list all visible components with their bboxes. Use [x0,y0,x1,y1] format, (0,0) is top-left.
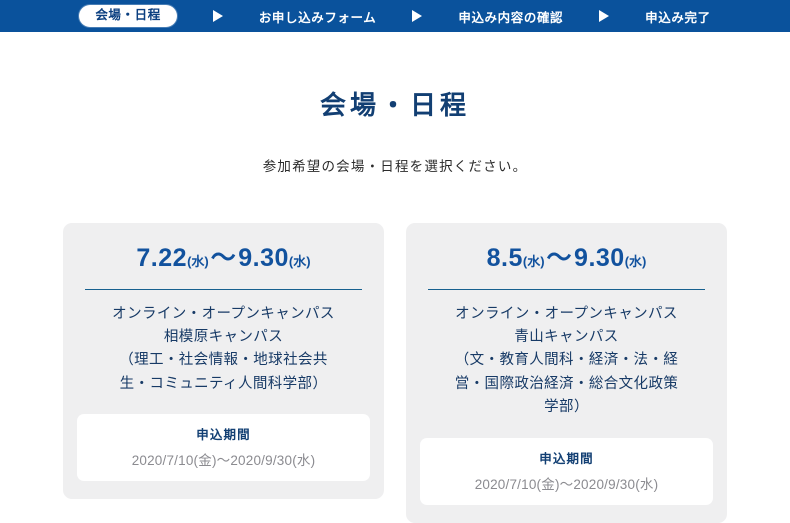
application-period-label: 申込期間 [428,448,705,467]
application-period-box: 申込期間 2020/7/10(金)〜2020/9/30(水) [77,414,370,481]
application-period-label: 申込期間 [85,424,362,443]
card-description-line: 青山キャンパス [424,326,709,349]
card-description-line: 学部） [424,396,709,419]
application-period-value: 2020/7/10(金)〜2020/9/30(水) [85,449,362,469]
card-description-line: オンライン・オープンキャンパス [424,303,709,326]
date-end: 9.30 [574,244,625,272]
card-description: オンライン・オープンキャンパス 相模原キャンパス （理工・社会情報・地球社会共 … [77,303,370,397]
card-description-line: （理工・社会情報・地球社会共 [81,349,366,372]
card-description-line: 営・国際政治経済・総合文化政策 [424,373,709,396]
card-date-range: 8.5(水)〜9.30(水) [420,245,713,273]
date-start-dow: (水) [187,254,209,269]
date-end: 9.30 [238,244,289,272]
page-subtitle: 参加希望の会場・日程を選択ください。 [0,155,790,175]
date-start: 7.22 [136,244,187,272]
date-end-dow: (水) [289,254,311,269]
page-title: 会場・日程 [0,85,790,122]
card-divider [85,289,362,290]
card-description-line: オンライン・オープンキャンパス [81,303,366,326]
date-separator: 〜 [209,244,239,272]
application-period-box: 申込期間 2020/7/10(金)〜2020/9/30(水) [420,438,713,505]
step-item-confirm-details[interactable]: 申込み内容の確認 [458,7,563,26]
venue-card-list: 7.22(水)〜9.30(水) オンライン・オープンキャンパス 相模原キャンパス… [0,223,790,523]
card-description-line: （文・教育人間科・経済・法・経 [424,349,709,372]
step-navigation-bar: 会場・日程 お申し込みフォーム 申込み内容の確認 申込み完了 [0,0,790,32]
date-separator: 〜 [545,244,575,272]
date-end-dow: (水) [625,254,647,269]
triangle-right-icon [412,10,422,22]
card-description-line: 生・コミュニティ人間科学部） [81,373,366,396]
application-period-value: 2020/7/10(金)〜2020/9/30(水) [428,473,705,493]
step-item-venue-date[interactable]: 会場・日程 [79,5,177,26]
venue-card-aoyama[interactable]: 8.5(水)〜9.30(水) オンライン・オープンキャンパス 青山キャンパス （… [406,223,727,523]
card-description-line: 相模原キャンパス [81,326,366,349]
venue-card-sagamihara[interactable]: 7.22(水)〜9.30(水) オンライン・オープンキャンパス 相模原キャンパス… [63,223,384,499]
card-date-range: 7.22(水)〜9.30(水) [77,245,370,273]
card-description: オンライン・オープンキャンパス 青山キャンパス （文・教育人間科・経済・法・経 … [420,303,713,420]
triangle-right-icon [599,10,609,22]
date-start: 8.5 [487,244,523,272]
card-divider [428,289,705,290]
triangle-right-icon [213,10,223,22]
date-start-dow: (水) [523,254,545,269]
step-item-complete[interactable]: 申込み完了 [645,7,711,26]
step-item-application-form[interactable]: お申し込みフォーム [259,7,377,26]
